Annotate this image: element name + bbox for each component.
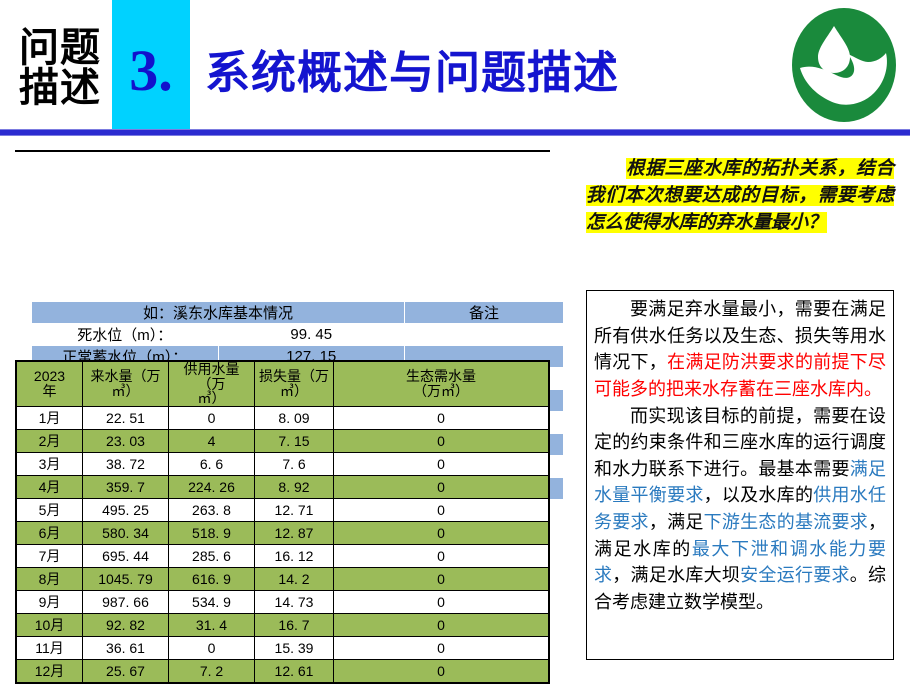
reservoir-table-title: 如：溪东水库基本情况 bbox=[32, 302, 405, 324]
table-row: 1月22. 5108. 090 bbox=[17, 407, 549, 430]
row-note bbox=[405, 324, 564, 346]
page-title: 系统概述与问题描述 bbox=[205, 36, 619, 101]
section-number: 3. bbox=[112, 24, 190, 116]
p2-blue-5: 安全运行要求 bbox=[740, 565, 850, 586]
table-row: 10月92. 8231. 416. 70 bbox=[17, 614, 549, 637]
section-tag-line-1: 问题 bbox=[19, 28, 101, 68]
cell-loss: 12. 87 bbox=[255, 522, 334, 545]
cell-supply: 0 bbox=[169, 407, 255, 430]
row-label: 死水位（m）： bbox=[32, 324, 219, 346]
p2-plain-d: ，满足 bbox=[649, 512, 704, 533]
cell-month: 3月 bbox=[17, 453, 83, 476]
column-header-2: 供用水量（万㎥） bbox=[169, 362, 255, 407]
cell-inflow: 36. 61 bbox=[83, 637, 169, 660]
cell-supply: 616. 9 bbox=[169, 568, 255, 591]
cell-month: 6月 bbox=[17, 522, 83, 545]
table-row: 7月695. 44285. 616. 120 bbox=[17, 545, 549, 568]
column-header-4: 生态需水量（万㎥） bbox=[334, 362, 549, 407]
cell-month: 8月 bbox=[17, 568, 83, 591]
cell-eco: 0 bbox=[334, 568, 549, 591]
cell-supply: 6. 6 bbox=[169, 453, 255, 476]
cell-eco: 0 bbox=[334, 591, 549, 614]
table-row: 6月580. 34518. 912. 870 bbox=[17, 522, 549, 545]
cell-loss: 8. 92 bbox=[255, 476, 334, 499]
cell-eco: 0 bbox=[334, 499, 549, 522]
cell-eco: 0 bbox=[334, 637, 549, 660]
cell-loss: 15. 39 bbox=[255, 637, 334, 660]
cell-month: 4月 bbox=[17, 476, 83, 499]
cell-supply: 224. 26 bbox=[169, 476, 255, 499]
table-header-row: 如：溪东水库基本情况备注 bbox=[32, 302, 564, 324]
reservoir-info-table-frame: 如：溪东水库基本情况备注死水位（m）：99. 45正常蓄水位（m）：127. 1… bbox=[15, 150, 550, 152]
p2-plain-a: 而实现该目标的前提，需要在设定的约束条件和三座水库的运行调度和水力联系下进行。最… bbox=[594, 406, 886, 480]
column-header-1: 来水量（万㎥） bbox=[83, 362, 169, 407]
cell-month: 5月 bbox=[17, 499, 83, 522]
table-row: 9月987. 66534. 914. 730 bbox=[17, 591, 549, 614]
cell-supply: 518. 9 bbox=[169, 522, 255, 545]
table-row: 12月25. 677. 212. 610 bbox=[17, 660, 549, 683]
cell-loss: 12. 61 bbox=[255, 660, 334, 683]
cell-eco: 0 bbox=[334, 407, 549, 430]
cell-month: 9月 bbox=[17, 591, 83, 614]
p2-blue-3: 下游生态的基流要求 bbox=[704, 512, 868, 533]
cell-loss: 8. 09 bbox=[255, 407, 334, 430]
question-callout: 根据三座水库的拓扑关系，结合我们本次想要达成的目标，需要考虑怎么使得水库的弃水量… bbox=[586, 155, 894, 236]
table-row: 8月1045. 79616. 914. 20 bbox=[17, 568, 549, 591]
cell-eco: 0 bbox=[334, 660, 549, 683]
question-highlight: 根据三座水库的拓扑关系，结合我们本次想要达成的目标，需要考虑怎么使得水库的弃水量… bbox=[586, 158, 894, 233]
cell-loss: 7. 15 bbox=[255, 430, 334, 453]
cell-eco: 0 bbox=[334, 430, 549, 453]
cell-inflow: 25. 67 bbox=[83, 660, 169, 683]
cell-supply: 4 bbox=[169, 430, 255, 453]
cell-inflow: 1045. 79 bbox=[83, 568, 169, 591]
cell-supply: 7. 2 bbox=[169, 660, 255, 683]
cell-inflow: 987. 66 bbox=[83, 591, 169, 614]
cell-inflow: 38. 72 bbox=[83, 453, 169, 476]
question-text: 根据三座水库的拓扑关系，结合我们本次想要达成的目标，需要考虑怎么使得水库的弃水量… bbox=[586, 155, 894, 236]
table-row: 3月38. 726. 67. 60 bbox=[17, 453, 549, 476]
cell-loss: 12. 71 bbox=[255, 499, 334, 522]
cell-inflow: 495. 25 bbox=[83, 499, 169, 522]
section-tag: 问题 描述 bbox=[8, 14, 112, 122]
cell-eco: 0 bbox=[334, 476, 549, 499]
cell-inflow: 22. 51 bbox=[83, 407, 169, 430]
cell-month: 10月 bbox=[17, 614, 83, 637]
cell-inflow: 359. 7 bbox=[83, 476, 169, 499]
table-row: 11月36. 61015. 390 bbox=[17, 637, 549, 660]
cell-loss: 16. 12 bbox=[255, 545, 334, 568]
table-row: 死水位（m）：99. 45 bbox=[32, 324, 564, 346]
monthly-water-table-frame: 2023年来水量（万㎥）供用水量（万㎥）损失量（万㎥）生态需水量（万㎥） 1月2… bbox=[15, 360, 550, 684]
cell-loss: 16. 7 bbox=[255, 614, 334, 637]
cell-eco: 0 bbox=[334, 545, 549, 568]
section-tag-line-2: 描述 bbox=[19, 68, 101, 108]
header-divider bbox=[0, 129, 910, 136]
reservoir-table-note-header: 备注 bbox=[405, 302, 564, 324]
cell-loss: 14. 73 bbox=[255, 591, 334, 614]
monthly-water-table: 2023年来水量（万㎥）供用水量（万㎥）损失量（万㎥）生态需水量（万㎥） 1月2… bbox=[16, 361, 549, 683]
table-row: 4月359. 7224. 268. 920 bbox=[17, 476, 549, 499]
cell-supply: 263. 8 bbox=[169, 499, 255, 522]
cell-loss: 14. 2 bbox=[255, 568, 334, 591]
column-header-3: 损失量（万㎥） bbox=[255, 362, 334, 407]
cell-month: 11月 bbox=[17, 637, 83, 660]
cell-eco: 0 bbox=[334, 453, 549, 476]
explanation-box: 要满足弃水量最小，需要在满足所有供水任务以及生态、损失等用水情况下，在满足防洪要… bbox=[586, 290, 894, 660]
table-row: 2月23. 0347. 150 bbox=[17, 430, 549, 453]
column-header-0: 2023年 bbox=[17, 362, 83, 407]
row-value: 99. 45 bbox=[218, 324, 405, 346]
water-drop-hand-logo bbox=[790, 6, 898, 124]
cell-inflow: 580. 34 bbox=[83, 522, 169, 545]
table-row: 5月495. 25263. 812. 710 bbox=[17, 499, 549, 522]
cell-supply: 31. 4 bbox=[169, 614, 255, 637]
cell-inflow: 23. 03 bbox=[83, 430, 169, 453]
cell-month: 12月 bbox=[17, 660, 83, 683]
p2-plain-c: ，以及水库的 bbox=[704, 485, 814, 506]
cell-month: 2月 bbox=[17, 430, 83, 453]
cell-supply: 0 bbox=[169, 637, 255, 660]
explanation-paragraph-1: 要满足弃水量最小，需要在满足所有供水任务以及生态、损失等用水情况下，在满足防洪要… bbox=[594, 297, 886, 404]
slide-header: 问题 描述 3. 系统概述与问题描述 bbox=[0, 0, 910, 132]
cell-loss: 7. 6 bbox=[255, 453, 334, 476]
explanation-paragraph-2: 而实现该目标的前提，需要在设定的约束条件和三座水库的运行调度和水力联系下进行。最… bbox=[594, 404, 886, 617]
cell-month: 1月 bbox=[17, 407, 83, 430]
cell-inflow: 695. 44 bbox=[83, 545, 169, 568]
table-header-row: 2023年来水量（万㎥）供用水量（万㎥）损失量（万㎥）生态需水量（万㎥） bbox=[17, 362, 549, 407]
cell-inflow: 92. 82 bbox=[83, 614, 169, 637]
cell-supply: 285. 6 bbox=[169, 545, 255, 568]
cell-month: 7月 bbox=[17, 545, 83, 568]
cell-supply: 534. 9 bbox=[169, 591, 255, 614]
p2-plain-f: ，满足水库大坝 bbox=[612, 565, 740, 586]
cell-eco: 0 bbox=[334, 522, 549, 545]
cell-eco: 0 bbox=[334, 614, 549, 637]
